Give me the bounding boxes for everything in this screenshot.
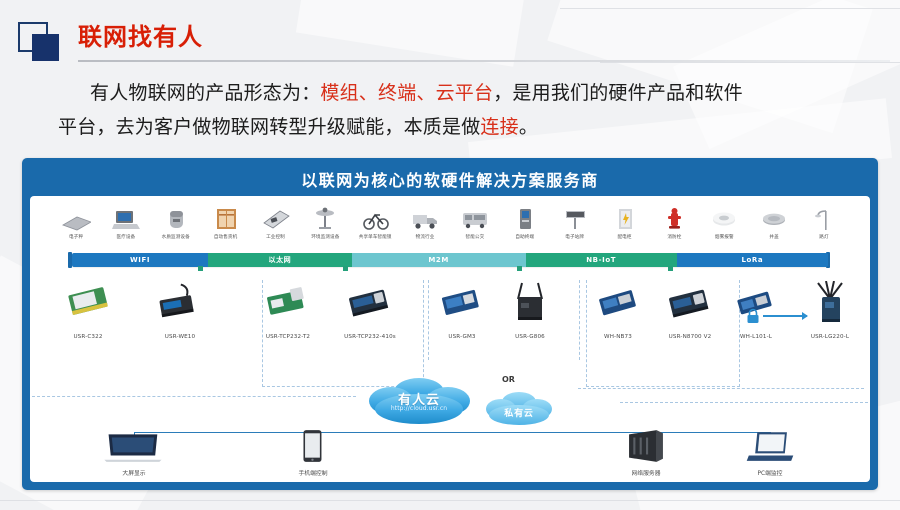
device-label: USR-TCP232-410s	[322, 334, 418, 340]
cloud-dash-right	[578, 388, 864, 389]
wifi-serial-server-icon	[132, 276, 228, 330]
two-squares-logo-icon	[18, 22, 64, 62]
secure-lock-icon	[746, 308, 760, 329]
cloud-dash-left	[32, 396, 356, 397]
intro-line2-prefix: 平台，去为客户做物联网转型升级赋能，本质是做	[58, 116, 480, 138]
public-cloud: 有人云 http://cloud.usr.cn	[360, 376, 478, 426]
application-item-street-light: 路灯	[794, 202, 854, 241]
ethernet-converter-icon	[322, 276, 418, 330]
intro-line1-suffix: ，是用我们的硬件产品和软件	[493, 82, 743, 104]
device-label: USR-C322	[40, 334, 136, 340]
industrial-router-icon	[482, 276, 578, 330]
terminal-item-mobile-phone: 手机端控制	[258, 428, 368, 477]
device-label: USR-G806	[482, 334, 578, 340]
network-server-icon	[591, 428, 701, 464]
lora-gateway-icon	[782, 276, 870, 330]
device-item-usr-g806: USR-G806	[482, 276, 578, 340]
network-type-wifi: WIFI	[72, 253, 208, 267]
device-item-usr-tcp232-410s: USR-TCP232-410s	[322, 276, 418, 340]
public-cloud-url: http://cloud.usr.cn	[360, 405, 478, 412]
application-label: 路灯	[794, 235, 854, 241]
large-display-icon	[79, 428, 189, 464]
intro-line1-highlight: 模组、终端、云平台	[320, 82, 493, 104]
application-icon-row: 电子秤医疗设备水质监测设备自动售货机工业控制环境监测设备共享单车智能锁物流行业智…	[30, 202, 870, 250]
network-type-: 以太网	[208, 253, 352, 267]
network-type-bar: WIFI以太网M2MNB-IoTLoRa	[72, 253, 828, 267]
network-type-m2m: M2M	[352, 253, 526, 267]
solution-diagram-panel: 以联网为核心的软硬件解决方案服务商 电子秤医疗设备水质监测设备自动售货机工业控制…	[22, 158, 878, 490]
or-label: OR	[502, 375, 515, 384]
network-type-nbiot: NB-IoT	[526, 253, 677, 267]
intro-paragraph: 有人物联网的产品形态为：模组、终端、云平台，是用我们的硬件产品和软件 平台，去为…	[58, 76, 868, 144]
intro-line2-highlight: 连接	[480, 116, 518, 138]
terminal-item-network-server: 网络服务器	[591, 428, 701, 477]
private-cloud-name: 私有云	[482, 406, 556, 419]
netbar-tick	[343, 266, 348, 271]
terminal-label: PC端监控	[715, 468, 825, 477]
device-label: USR-LG220-L	[782, 334, 870, 340]
netbar-tick	[517, 266, 522, 271]
device-item-usr-lg220-l: USR-LG220-L	[782, 276, 870, 340]
device-label: USR-WE10	[132, 334, 228, 340]
laptop-pc-icon	[715, 428, 825, 464]
device-item-usr-we10: USR-WE10	[132, 276, 228, 340]
private-cloud: 私有云	[482, 390, 556, 426]
device-item-usr-c322: USR-C322	[40, 276, 136, 340]
intro-line1-prefix: 有人物联网的产品形态为：	[90, 82, 320, 104]
network-type-lora: LoRa	[677, 253, 828, 267]
title-divider	[78, 60, 890, 62]
intro-line2-suffix: 。	[519, 116, 538, 138]
panel-title: 以联网为核心的软硬件解决方案服务商	[22, 167, 878, 191]
diagram-canvas: 电子秤医疗设备水质监测设备自动售货机工业控制环境监测设备共享单车智能锁物流行业智…	[30, 196, 870, 482]
mobile-phone-icon	[258, 428, 368, 464]
wifi-module-icon	[40, 276, 136, 330]
terminal-row: 大屏显示手机端控制网络服务器PC端监控	[30, 428, 870, 482]
page-header: 联网找有人	[0, 0, 900, 70]
terminal-label: 网络服务器	[591, 468, 701, 477]
lora-link-arrow	[763, 315, 807, 317]
cloud-dash-right-2	[620, 402, 868, 403]
terminal-label: 手机端控制	[258, 468, 368, 477]
device-row: USR-C322USR-WE10USR-TCP232-T2USR-TCP232-…	[30, 276, 870, 372]
terminal-item-large-display: 大屏显示	[79, 428, 189, 477]
terminal-item-laptop-pc: PC端监控	[715, 428, 825, 477]
page-title: 联网找有人	[78, 22, 203, 52]
street-light-icon	[794, 202, 854, 232]
terminal-label: 大屏显示	[79, 468, 189, 477]
cloud-band: OR 有人云	[30, 372, 870, 430]
netbar-tick	[198, 266, 203, 271]
netbar-tick	[668, 266, 673, 271]
